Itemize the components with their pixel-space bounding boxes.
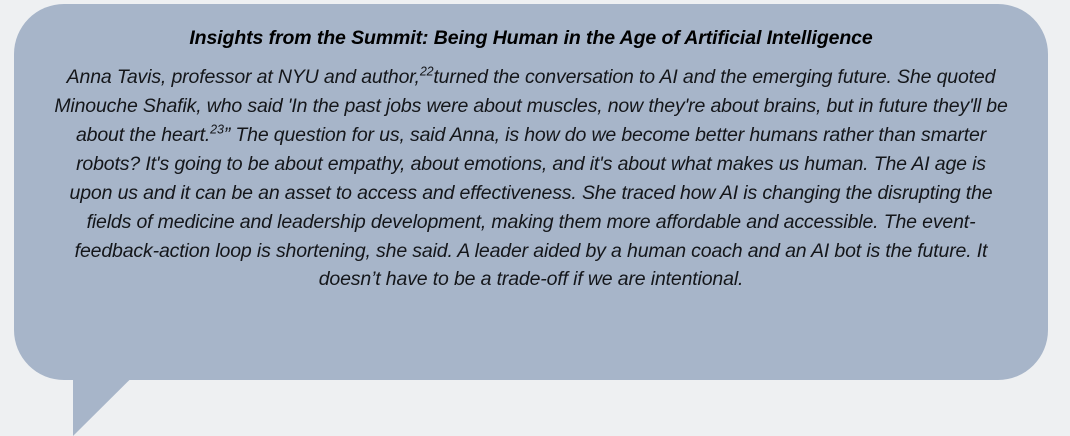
- callout-title: Insights from the Summit: Being Human in…: [48, 26, 1014, 51]
- body-segment-3: ” The question for us, said Anna, is how…: [70, 124, 993, 290]
- footnote-ref-23: 23: [210, 123, 224, 137]
- callout-body: Anna Tavis, professor at NYU and author,…: [48, 63, 1014, 294]
- footnote-ref-22: 22: [420, 65, 434, 79]
- callout-canvas: Insights from the Summit: Being Human in…: [0, 0, 1070, 436]
- speech-bubble: Insights from the Summit: Being Human in…: [14, 4, 1048, 380]
- body-segment-1: Anna Tavis, professor at NYU and author,: [67, 66, 420, 88]
